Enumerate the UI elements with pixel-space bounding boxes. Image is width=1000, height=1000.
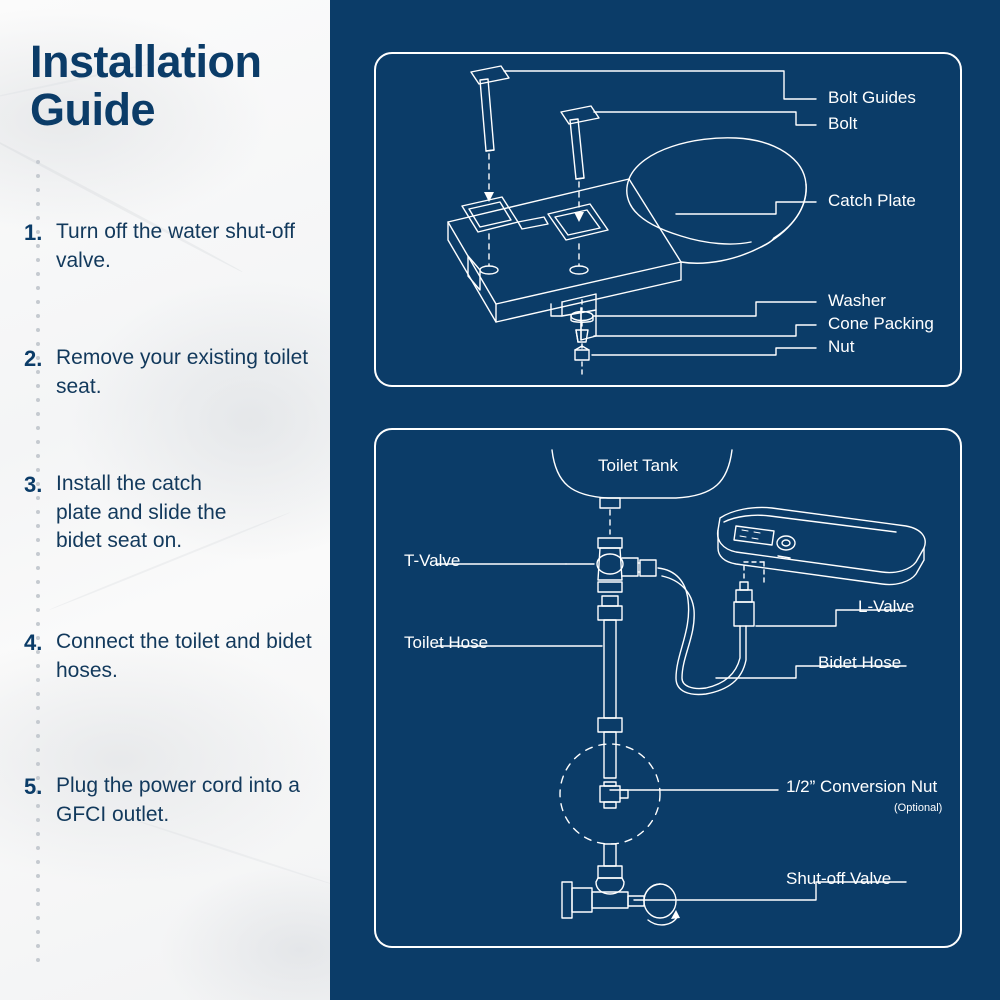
timeline-dot	[36, 930, 40, 934]
page-title-line-1: Installation	[30, 38, 320, 86]
step-number: 1.	[24, 218, 56, 275]
timeline-dot	[36, 188, 40, 192]
label-t-valve: T-Valve	[404, 551, 460, 571]
timeline-dot	[36, 202, 40, 206]
page-title-line-2: Guide	[30, 86, 320, 134]
label-washer: Washer	[828, 291, 886, 311]
timeline-dot	[36, 580, 40, 584]
timeline-dot	[36, 706, 40, 710]
timeline-dot	[36, 622, 40, 626]
timeline-dot	[36, 692, 40, 696]
step-number: 2.	[24, 344, 56, 401]
label-l-valve: L-Valve	[858, 597, 914, 617]
timeline-dot	[36, 440, 40, 444]
installation-guide-page: Installation Guide 1. Turn off the water…	[0, 0, 1000, 1000]
step-text: Connect the toilet and bidet hoses.	[56, 628, 320, 685]
timeline-dot	[36, 314, 40, 318]
timeline-dot	[36, 916, 40, 920]
step-number: 5.	[24, 772, 56, 829]
step-text: Install the catch plate and slide the bi…	[56, 470, 236, 556]
step-item-1: 1. Turn off the water shut-off valve.	[24, 218, 320, 275]
timeline-dot	[36, 958, 40, 962]
timeline-dot	[36, 160, 40, 164]
timeline-dot	[36, 902, 40, 906]
timeline-dot	[36, 748, 40, 752]
label-catch-plate: Catch Plate	[828, 191, 916, 211]
step-number: 4.	[24, 628, 56, 685]
step-item-4: 4. Connect the toilet and bidet hoses.	[24, 628, 320, 685]
diagram-card-mounting: Bolt Guides Bolt Catch Plate Washer Cone…	[374, 52, 962, 387]
timeline-dot	[36, 734, 40, 738]
timeline-dot	[36, 608, 40, 612]
label-nut: Nut	[828, 337, 854, 357]
label-bidet-hose: Bidet Hose	[818, 653, 901, 673]
timeline-dot	[36, 832, 40, 836]
label-conversion-nut-note: (Optional)	[894, 802, 942, 814]
left-instructions-panel: Installation Guide 1. Turn off the water…	[0, 0, 330, 1000]
step-number: 3.	[24, 470, 56, 556]
timeline-dot	[36, 594, 40, 598]
label-toilet-hose: Toilet Hose	[404, 633, 488, 653]
label-shut-off-valve: Shut-off Valve	[786, 869, 891, 889]
timeline-dot	[36, 328, 40, 332]
timeline-dot	[36, 412, 40, 416]
timeline-dot	[36, 426, 40, 430]
timeline-dot	[36, 566, 40, 570]
timeline-dot	[36, 944, 40, 948]
dotted-timeline-rail	[36, 160, 40, 972]
timeline-dot	[36, 300, 40, 304]
timeline-dot	[36, 720, 40, 724]
label-toilet-tank: Toilet Tank	[598, 456, 678, 476]
step-text: Turn off the water shut-off valve.	[56, 218, 320, 275]
label-bolt: Bolt	[828, 114, 857, 134]
timeline-dot	[36, 454, 40, 458]
label-conversion-nut: 1/2” Conversion Nut	[786, 777, 937, 797]
step-text: Plug the power cord into a GFCI outlet.	[56, 772, 320, 829]
timeline-dot	[36, 888, 40, 892]
timeline-dot	[36, 286, 40, 290]
timeline-dot	[36, 874, 40, 878]
step-item-2: 2. Remove your existing toilet seat.	[24, 344, 320, 401]
timeline-dot	[36, 846, 40, 850]
right-diagram-panel: Bolt Guides Bolt Catch Plate Washer Cone…	[336, 0, 1000, 1000]
label-bolt-guides: Bolt Guides	[828, 88, 916, 108]
timeline-dot	[36, 762, 40, 766]
timeline-dot	[36, 860, 40, 864]
page-title: Installation Guide	[30, 38, 320, 133]
label-cone-packing: Cone Packing	[828, 314, 934, 334]
diagram-card-plumbing: Toilet Tank T-Valve Toilet Hose L-Valve …	[374, 428, 962, 948]
timeline-dot	[36, 174, 40, 178]
step-text: Remove your existing toilet seat.	[56, 344, 320, 401]
step-item-5: 5. Plug the power cord into a GFCI outle…	[24, 772, 320, 829]
step-item-3: 3. Install the catch plate and slide the…	[24, 470, 320, 556]
